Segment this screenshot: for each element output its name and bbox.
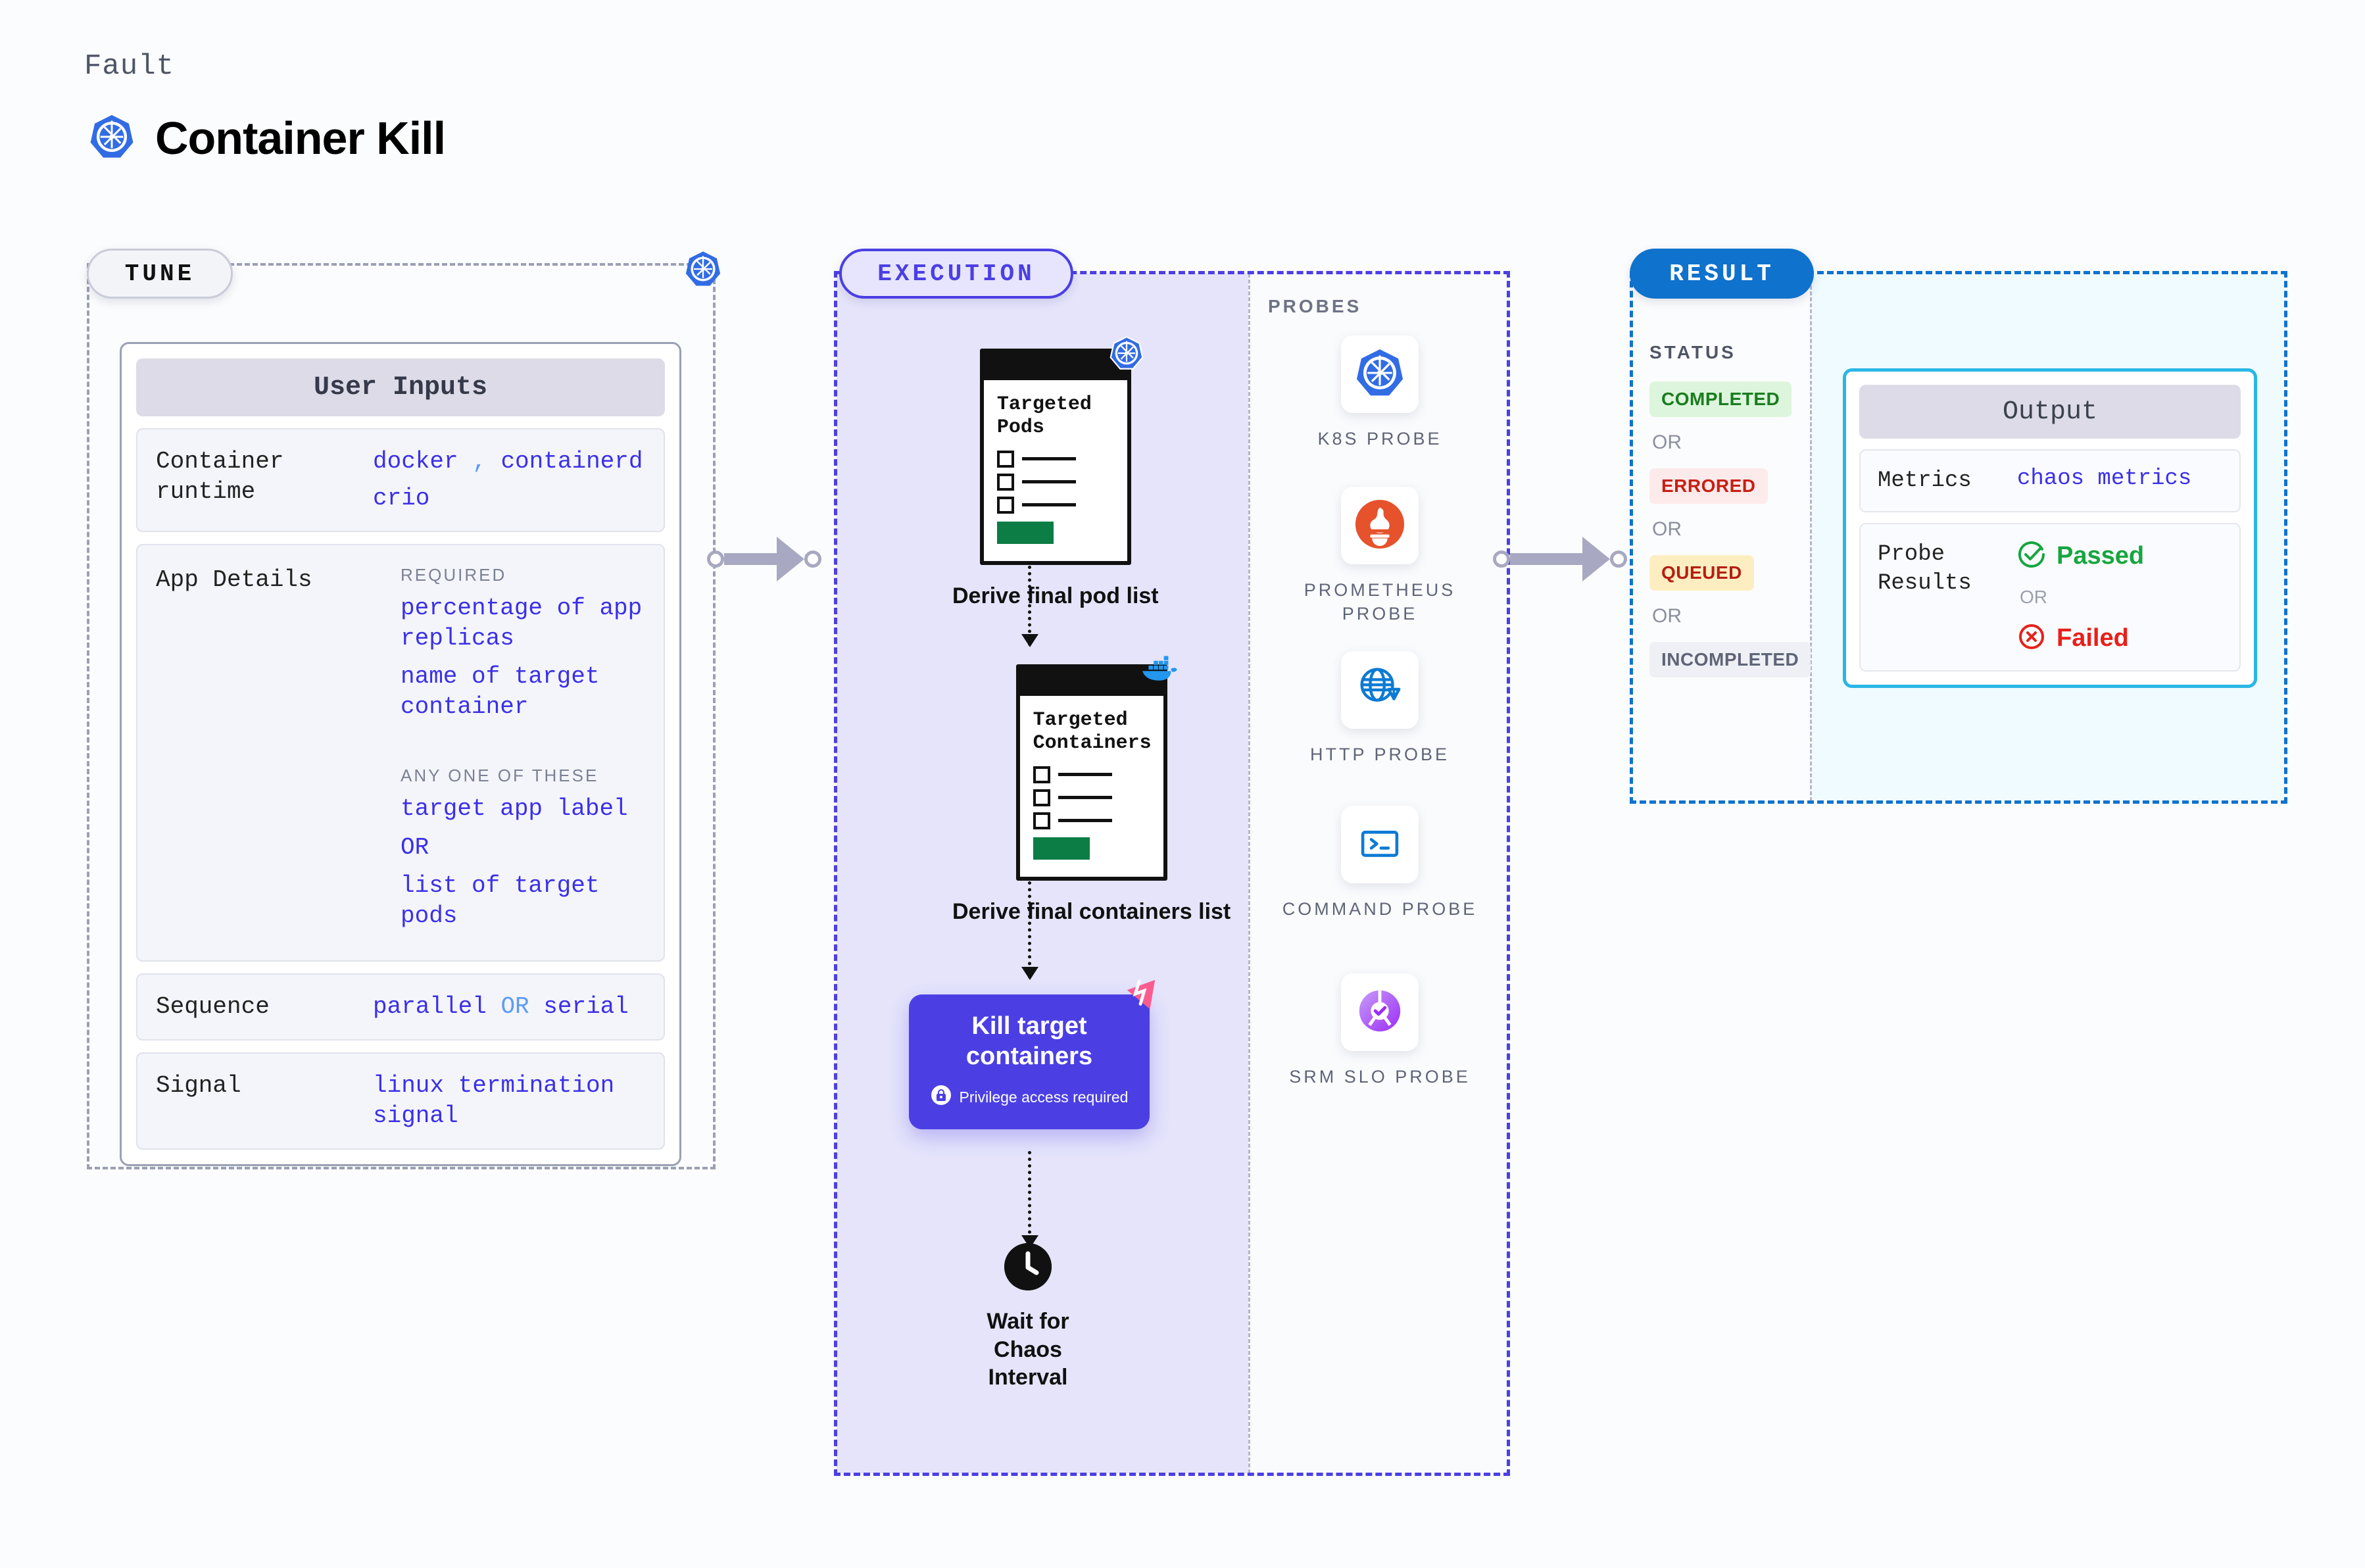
kubernetes-icon bbox=[88, 113, 135, 164]
row-label: Container runtime bbox=[156, 447, 373, 514]
row-value-or: OR bbox=[401, 833, 645, 863]
input-row-sequence: Sequence parallel OR serial bbox=[136, 973, 665, 1041]
circle-check-icon bbox=[2017, 540, 2046, 572]
connector-arrowhead bbox=[1582, 537, 1610, 581]
probe-label: HTTP PROBE bbox=[1310, 743, 1450, 767]
status-badge-incompleted: INCOMPLETED bbox=[1649, 642, 1811, 677]
node-derive-pod-list: Targeted Pods bbox=[952, 349, 1159, 610]
page-title: Container Kill bbox=[155, 112, 445, 164]
text-placeholder-line bbox=[1022, 503, 1076, 506]
row-value: list of target pods bbox=[401, 871, 645, 931]
connector-tune-to-execution bbox=[707, 533, 821, 585]
page-eyebrow: Fault bbox=[84, 50, 174, 83]
document-checklist-line bbox=[997, 474, 1114, 491]
document-checklist-line bbox=[997, 497, 1114, 514]
probe-label: COMMAND PROBE bbox=[1282, 898, 1478, 921]
probe-result-label: Failed bbox=[2057, 624, 2129, 652]
circle-x-icon bbox=[2017, 622, 2046, 654]
probe-icon-card bbox=[1341, 487, 1419, 564]
row-label: Metrics bbox=[1878, 466, 2017, 495]
diagram-canvas: Fault Container Kill TUNE bbox=[0, 0, 2365, 1568]
checkbox-icon bbox=[1033, 789, 1050, 806]
kubernetes-icon bbox=[1109, 335, 1144, 374]
connector-dot bbox=[707, 551, 724, 568]
probe-item-prometheus[interactable]: PROMETHEUS PROBE bbox=[1281, 487, 1478, 625]
or-separator: OR bbox=[1652, 431, 1814, 454]
probe-result-passed: Passed bbox=[2017, 540, 2222, 572]
input-row-app-details: App Details REQUIRED percentage of app r… bbox=[136, 544, 665, 962]
flow-arrow bbox=[1028, 1151, 1031, 1247]
document-title: Targeted Pods bbox=[997, 393, 1114, 440]
output-row-metrics: Metrics chaos metrics bbox=[1859, 449, 2241, 512]
probe-icon-card bbox=[1341, 806, 1419, 883]
input-row-container-runtime: Container runtime docker , containerd cr… bbox=[136, 428, 665, 532]
or-separator: OR bbox=[2020, 587, 2222, 608]
privilege-note: Privilege access required bbox=[931, 1085, 1129, 1110]
execution-pill: EXECUTION bbox=[839, 249, 1073, 299]
row-label: Sequence bbox=[156, 992, 373, 1022]
status-badge-errored: ERRORED bbox=[1649, 468, 1768, 504]
connector-arrowhead bbox=[777, 537, 804, 581]
probe-label: SRM SLO PROBE bbox=[1289, 1066, 1471, 1089]
row-value: linux termination signal bbox=[373, 1071, 645, 1131]
row-value: parallel OR serial bbox=[373, 992, 645, 1022]
document-titlebar bbox=[984, 353, 1127, 380]
result-pill: RESULT bbox=[1630, 249, 1814, 299]
page-title-row: Container Kill bbox=[88, 112, 445, 164]
text-placeholder-line bbox=[1022, 480, 1076, 483]
checkbox-icon bbox=[1033, 766, 1050, 783]
connector-dot bbox=[1610, 551, 1627, 568]
probe-label: K8S PROBE bbox=[1317, 428, 1442, 451]
checkbox-icon bbox=[997, 451, 1014, 468]
document-title: Targeted Containers bbox=[1033, 709, 1150, 756]
text-placeholder-line bbox=[1058, 819, 1112, 822]
checkbox-icon bbox=[997, 474, 1014, 491]
document-green-block bbox=[1033, 837, 1090, 860]
litmuschaos-icon bbox=[1122, 977, 1160, 1016]
probe-icon-card bbox=[1341, 651, 1419, 729]
probe-item-k8s[interactable]: K8S PROBE bbox=[1281, 335, 1478, 451]
kubernetes-icon bbox=[684, 250, 722, 291]
connector-execution-to-result bbox=[1493, 533, 1627, 585]
terminal-icon bbox=[1355, 819, 1404, 871]
output-heading: Output bbox=[1859, 385, 2241, 439]
row-value: name of target container bbox=[401, 662, 645, 722]
globe-warning-icon bbox=[1354, 663, 1405, 718]
document-checklist-line bbox=[1033, 789, 1150, 806]
probe-item-command[interactable]: COMMAND PROBE bbox=[1281, 806, 1478, 921]
node-kill-target-containers: Kill target containers Privilege access … bbox=[909, 994, 1150, 1129]
row-label: Probe Results bbox=[1878, 540, 2017, 654]
node-wait-for-chaos-interval: Wait for Chaos Interval bbox=[952, 1243, 1104, 1392]
status-badge-queued: QUEUED bbox=[1649, 555, 1754, 591]
output-card: Output Metrics chaos metrics Probe Resul… bbox=[1843, 368, 2257, 688]
probe-item-http[interactable]: HTTP PROBE bbox=[1281, 651, 1478, 767]
document-checklist-line bbox=[1033, 766, 1150, 783]
clock-icon bbox=[1004, 1243, 1052, 1290]
document-card: Targeted Containers bbox=[1016, 664, 1167, 881]
document-green-block bbox=[997, 522, 1054, 544]
docker-whale-icon bbox=[1140, 651, 1181, 686]
connector-bar bbox=[724, 553, 777, 565]
prometheus-icon bbox=[1354, 499, 1405, 553]
document-checklist-line bbox=[997, 451, 1114, 468]
flow-arrow bbox=[1028, 566, 1031, 646]
probe-label: PROMETHEUS PROBE bbox=[1281, 579, 1478, 625]
or-separator: OR bbox=[1652, 518, 1814, 541]
status-badge-completed: COMPLETED bbox=[1649, 381, 1792, 417]
row-value: percentage of app replicas bbox=[401, 593, 645, 654]
tune-pill: TUNE bbox=[87, 249, 233, 299]
connector-bar bbox=[1510, 553, 1582, 565]
node-label: Wait for Chaos Interval bbox=[952, 1308, 1104, 1392]
node-title: Kill target containers bbox=[922, 1012, 1136, 1071]
slo-donut-check-icon bbox=[1354, 985, 1405, 1040]
text-placeholder-line bbox=[1058, 796, 1112, 799]
row-label: Signal bbox=[156, 1071, 373, 1131]
user-inputs-card: User Inputs Container runtime docker , c… bbox=[120, 342, 681, 1166]
checkbox-icon bbox=[997, 497, 1014, 514]
privilege-note-label: Privilege access required bbox=[960, 1089, 1129, 1106]
document-card: Targeted Pods bbox=[980, 349, 1131, 565]
probes-section-title: PROBES bbox=[1268, 296, 1361, 317]
row-value: chaos metrics bbox=[2017, 466, 2222, 491]
node-label: Derive final pod list bbox=[952, 582, 1159, 610]
or-separator: OR bbox=[1652, 605, 1814, 627]
checkbox-icon bbox=[1033, 812, 1050, 829]
document-checklist-line bbox=[1033, 812, 1150, 829]
probe-result-label: Passed bbox=[2057, 542, 2144, 570]
user-inputs-heading: User Inputs bbox=[136, 358, 665, 416]
kubernetes-icon bbox=[1354, 347, 1405, 402]
status-section-title: STATUS bbox=[1649, 342, 1736, 363]
connector-dot bbox=[1493, 551, 1510, 568]
row-value: crio bbox=[373, 483, 645, 514]
probe-icon-card bbox=[1341, 973, 1419, 1051]
group-label-required: REQUIRED bbox=[401, 565, 645, 585]
probe-icon-card bbox=[1341, 335, 1419, 413]
lock-icon bbox=[931, 1085, 952, 1110]
group-label-any-one: ANY ONE OF THESE bbox=[401, 766, 645, 786]
text-placeholder-line bbox=[1058, 773, 1112, 776]
connector-dot bbox=[804, 551, 821, 568]
flow-arrow bbox=[1028, 881, 1031, 979]
output-row-probe-results: Probe Results Passed OR bbox=[1859, 523, 2241, 672]
probe-item-srm-slo[interactable]: SRM SLO PROBE bbox=[1281, 973, 1478, 1089]
node-derive-containers-list: Targeted Containers bbox=[952, 664, 1231, 925]
text-placeholder-line bbox=[1022, 457, 1076, 460]
row-value: docker , containerd bbox=[373, 447, 645, 477]
input-row-signal: Signal linux termination signal bbox=[136, 1052, 665, 1150]
status-list: COMPLETED OR ERRORED OR QUEUED OR INCOMP… bbox=[1649, 381, 1814, 677]
row-value: target app label bbox=[401, 794, 645, 824]
node-label: Derive final containers list bbox=[952, 898, 1231, 926]
probe-result-failed: Failed bbox=[2017, 622, 2222, 654]
row-label: App Details bbox=[156, 565, 373, 931]
